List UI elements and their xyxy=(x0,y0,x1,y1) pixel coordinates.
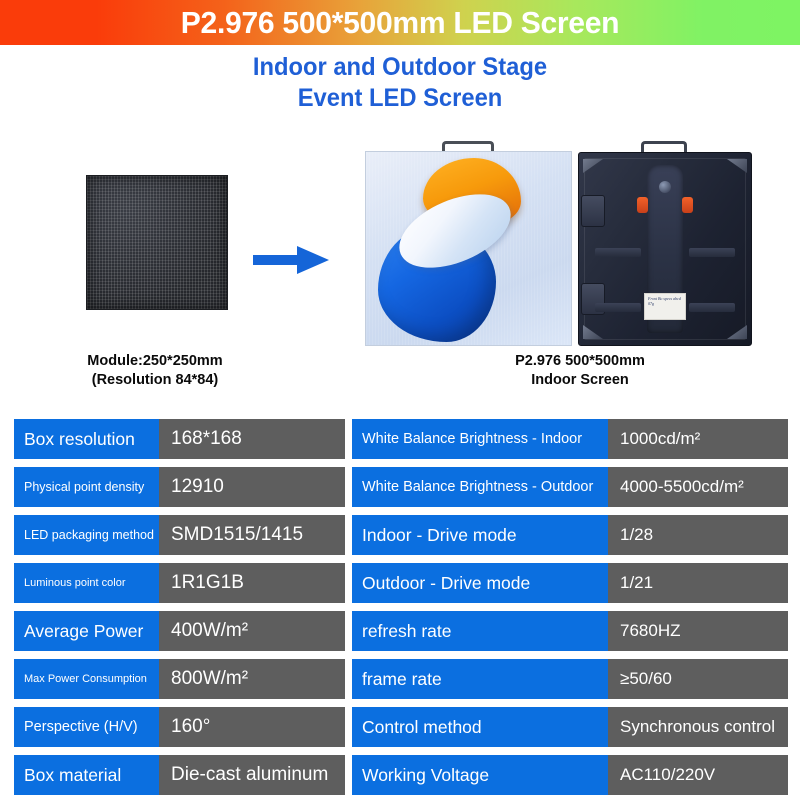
spec-row: Box materialDie-cast aluminum xyxy=(14,755,345,795)
spec-label: Indoor - Drive mode xyxy=(352,515,608,555)
led-cabinet-back-image: Front Bo specs abcd 07g xyxy=(578,141,750,344)
cabinet-caption-line-1: P2.976 500*500mm xyxy=(440,352,720,371)
cabinet-screen-content xyxy=(365,151,572,346)
spec-label: White Balance Brightness - Indoor xyxy=(352,419,608,459)
spec-row: Max Power Consumption800W/m² xyxy=(14,659,345,699)
spec-label: Perspective (H/V) xyxy=(14,707,159,747)
cabinet-lock-upper xyxy=(581,195,605,227)
cabinet-orange-tab-right xyxy=(682,197,693,213)
cabinet-rib-3 xyxy=(595,303,641,312)
spec-row: Box resolution168*168 xyxy=(14,419,345,459)
spec-row: White Balance Brightness - Indoor1000cd/… xyxy=(352,419,788,459)
cabinet-orange-tab-left xyxy=(637,197,648,213)
spec-label: Physical point density xyxy=(14,467,159,507)
spec-value: AC110/220V xyxy=(608,755,788,795)
spec-value: 1R1G1B xyxy=(159,563,345,603)
spec-value: 400W/m² xyxy=(159,611,345,651)
cabinet-sticker-text: Front Bo specs abcd 07g xyxy=(645,294,685,306)
spec-row: Working VoltageAC110/220V xyxy=(352,755,788,795)
spec-row: Perspective (H/V)160° xyxy=(14,707,345,747)
spec-value: 1/21 xyxy=(608,563,788,603)
spec-row: refresh rate7680HZ xyxy=(352,611,788,651)
subtitle-line-1: Indoor and Outdoor Stage xyxy=(20,52,780,83)
spec-label: Outdoor - Drive mode xyxy=(352,563,608,603)
led-cabinet-front-image xyxy=(365,141,570,344)
spec-label: Working Voltage xyxy=(352,755,608,795)
module-caption-line-1: Module:250*250mm xyxy=(30,352,280,371)
spec-row: Physical point density12910 xyxy=(14,467,345,507)
specifications-table: Box resolution168*168Physical point dens… xyxy=(14,419,788,795)
spec-label: Box material xyxy=(14,755,159,795)
spec-row: Control methodSynchronous control xyxy=(352,707,788,747)
spec-value: 1/28 xyxy=(608,515,788,555)
spec-value: Synchronous control xyxy=(608,707,788,747)
right-arrow-icon xyxy=(253,243,329,277)
column-gap xyxy=(345,419,352,795)
spec-row: Indoor - Drive mode1/28 xyxy=(352,515,788,555)
spec-value: 12910 xyxy=(159,467,345,507)
spec-value: 160° xyxy=(159,707,345,747)
cabinet-rib-1 xyxy=(595,248,641,257)
spec-label: refresh rate xyxy=(352,611,608,651)
subtitle-block: Indoor and Outdoor Stage Event LED Scree… xyxy=(0,52,800,114)
spec-label: Max Power Consumption xyxy=(14,659,159,699)
module-caption: Module:250*250mm (Resolution 84*84) xyxy=(30,352,280,390)
banner-title: P2.976 500*500mm LED Screen xyxy=(181,7,619,38)
spec-row: LED packaging methodSMD1515/1415 xyxy=(14,515,345,555)
module-caption-line-2: (Resolution 84*84) xyxy=(30,371,280,390)
spec-value: 1000cd/m² xyxy=(608,419,788,459)
spec-row: Luminous point color1R1G1B xyxy=(14,563,345,603)
spec-label: Luminous point color xyxy=(14,563,159,603)
led-module-image xyxy=(86,175,228,310)
cabinet-caption: P2.976 500*500mm Indoor Screen xyxy=(440,352,720,390)
spec-row: Outdoor - Drive mode1/21 xyxy=(352,563,788,603)
spec-row: Average Power400W/m² xyxy=(14,611,345,651)
cabinet-caption-line-2: Indoor Screen xyxy=(440,371,720,390)
spec-value: 168*168 xyxy=(159,419,345,459)
spec-label: LED packaging method xyxy=(14,515,159,555)
spec-label: Control method xyxy=(352,707,608,747)
spec-value: 7680HZ xyxy=(608,611,788,651)
cabinet-rib-4 xyxy=(689,303,735,312)
spec-label: White Balance Brightness - Outdoor xyxy=(352,467,608,507)
spec-label: frame rate xyxy=(352,659,608,699)
spec-column-right: White Balance Brightness - Indoor1000cd/… xyxy=(352,419,788,795)
cabinet-back-body: Front Bo specs abcd 07g xyxy=(578,152,752,346)
spec-value: Die-cast aluminum xyxy=(159,755,345,795)
cabinet-knob-icon xyxy=(659,181,671,193)
spec-value: SMD1515/1415 xyxy=(159,515,345,555)
spec-value: 800W/m² xyxy=(159,659,345,699)
cabinet-rib-2 xyxy=(689,248,735,257)
spec-row: frame rate≥50/60 xyxy=(352,659,788,699)
subtitle-line-2: Event LED Screen xyxy=(20,83,780,114)
cabinet-white-sticker: Front Bo specs abcd 07g xyxy=(644,293,686,320)
spec-value: 4000-5500cd/m² xyxy=(608,467,788,507)
spec-row: White Balance Brightness - Outdoor4000-5… xyxy=(352,467,788,507)
spec-column-left: Box resolution168*168Physical point dens… xyxy=(14,419,345,795)
spec-value: ≥50/60 xyxy=(608,659,788,699)
spec-label: Box resolution xyxy=(14,419,159,459)
header-banner: P2.976 500*500mm LED Screen xyxy=(0,0,800,45)
spec-label: Average Power xyxy=(14,611,159,651)
